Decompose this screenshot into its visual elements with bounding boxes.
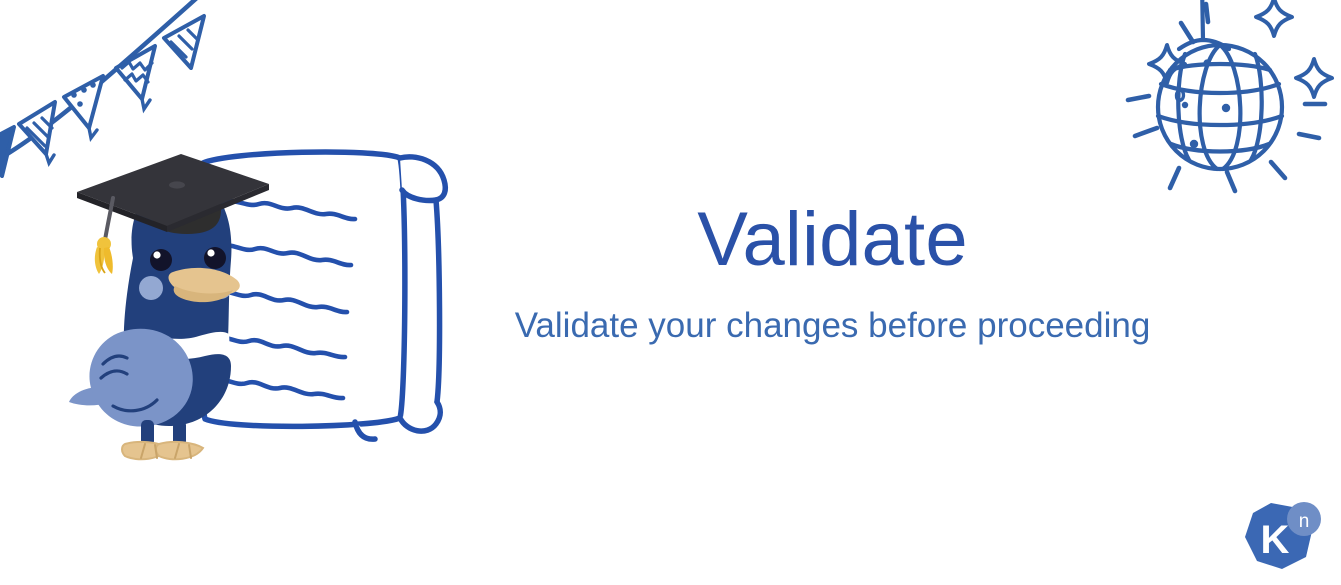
page-subtitle: Validate your changes before proceeding (465, 306, 1200, 346)
graduate-bird-mascot-icon (69, 154, 269, 459)
hero-text-block: Validate Validate your changes before pr… (465, 200, 1200, 346)
disco-ball-rays (1128, 4, 1325, 191)
graduate-bird-with-scroll-illustration (55, 140, 455, 470)
kn-logo: K n (1237, 497, 1323, 577)
kn-logo-primary-mark: K (1261, 518, 1290, 562)
disco-ball-facets (1182, 59, 1230, 148)
disco-ball-sparkles (1149, 0, 1332, 97)
page-title: Validate (465, 200, 1200, 280)
bunting-banner-icon (0, 0, 222, 184)
bunting-flag-striped (19, 102, 55, 163)
disco-ball-icon (1113, 0, 1341, 227)
graduation-cap-icon (77, 154, 269, 274)
bunting-flag-striped-top (164, 16, 204, 68)
bunting-flag-zigzag (116, 46, 155, 109)
bunting-flag-dotted (64, 76, 103, 138)
scroll-certificate-icon (199, 152, 445, 439)
bunting-flag-solid (0, 127, 14, 176)
kn-logo-secondary-mark: n (1299, 511, 1310, 532)
slide-canvas: Validate Validate your changes before pr… (0, 0, 1341, 585)
scroll-text-lines (211, 201, 355, 398)
